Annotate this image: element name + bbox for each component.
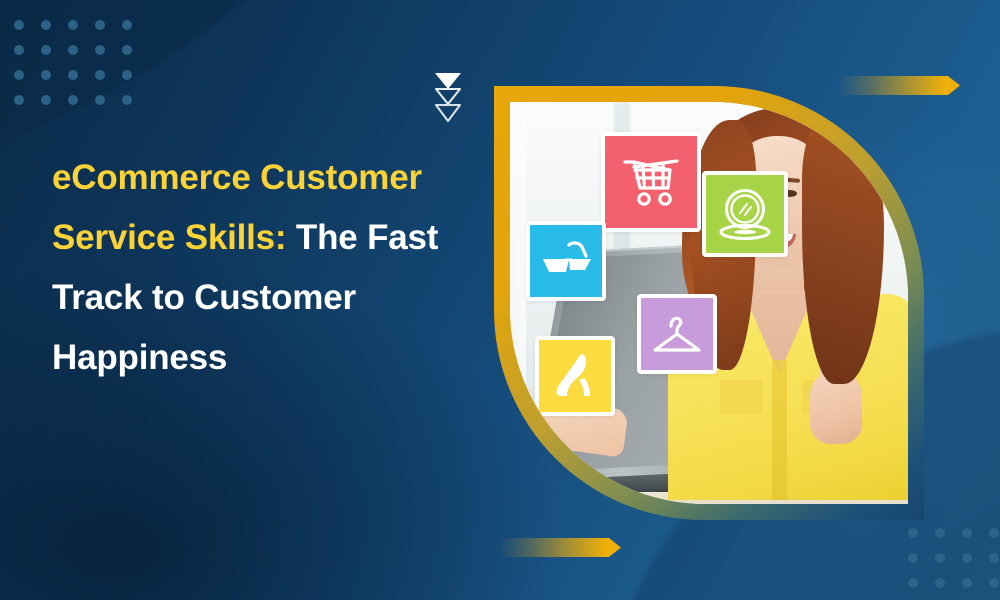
triple-chevron-down-icon (432, 70, 464, 126)
dot (908, 553, 918, 563)
dot (935, 553, 945, 563)
clothes-hanger-icon (650, 311, 704, 357)
dot (989, 578, 999, 588)
hero-photo (510, 102, 908, 504)
dot (95, 95, 105, 105)
page-title: eCommerce Customer Service Skills: The F… (52, 148, 447, 388)
dot-grid-bottom-right (908, 528, 1000, 600)
dot (68, 45, 78, 55)
dot (908, 578, 918, 588)
product-icon-tiles (526, 114, 856, 444)
dot (95, 45, 105, 55)
dot (962, 553, 972, 563)
compact-mirror-tile (702, 171, 788, 257)
high-heel-shoe-icon (550, 351, 600, 401)
clothes-hanger-tile (637, 294, 717, 374)
banner-root: eCommerce Customer Service Skills: The F… (0, 0, 1000, 600)
dot (935, 578, 945, 588)
page-title-accent: Skills: (185, 218, 287, 257)
dot (14, 95, 24, 105)
dot (14, 45, 24, 55)
dot (122, 45, 132, 55)
dot (962, 578, 972, 588)
dot (41, 45, 51, 55)
dot (908, 528, 918, 538)
dot (122, 70, 132, 80)
dot (41, 70, 51, 80)
dot (935, 528, 945, 538)
shopping-cart-icon (622, 156, 680, 208)
hero-image-frame (494, 86, 924, 520)
dot (989, 528, 999, 538)
dot (962, 528, 972, 538)
dot (14, 20, 24, 30)
page-title-accent: eCommerce (52, 158, 251, 197)
dot (95, 20, 105, 30)
dot (95, 70, 105, 80)
sunglasses-tile (526, 221, 606, 301)
dot (989, 553, 999, 563)
dot (41, 95, 51, 105)
dot (68, 95, 78, 105)
dot (14, 70, 24, 80)
sunglasses-icon (539, 239, 593, 283)
dot (68, 20, 78, 30)
compact-mirror-icon (716, 187, 774, 241)
high-heel-shoe-tile (535, 336, 615, 416)
gold-accent-bar-bottom (499, 538, 621, 557)
dot-grid-top-left (14, 20, 132, 105)
dot (122, 95, 132, 105)
shopping-cart-tile (601, 132, 701, 232)
dot (41, 20, 51, 30)
dot (122, 20, 132, 30)
dot (68, 70, 78, 80)
